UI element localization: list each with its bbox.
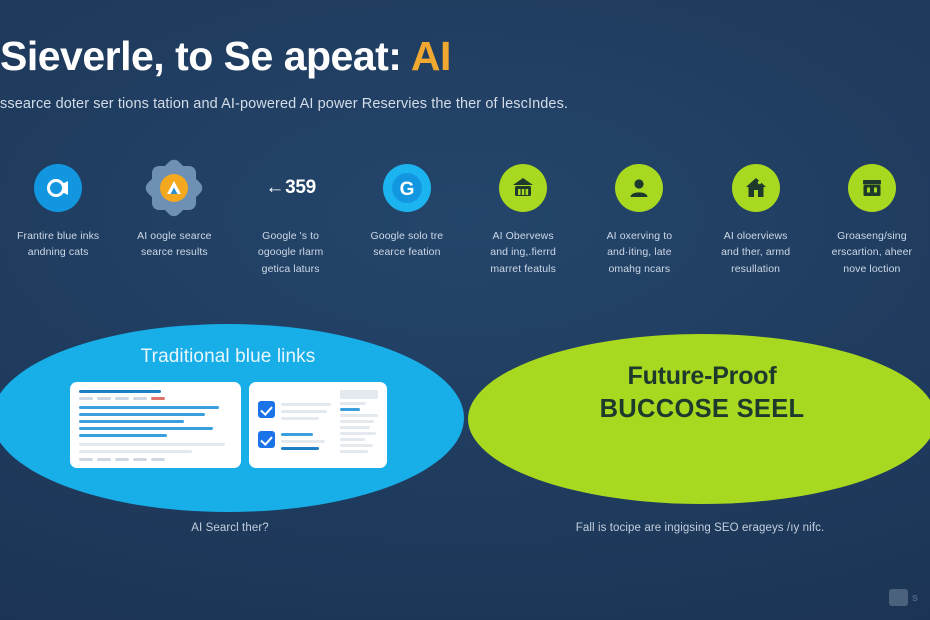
svg-text:G: G [399, 179, 414, 200]
result-line-muted [79, 443, 226, 446]
row-line [281, 417, 319, 420]
result-line [79, 427, 214, 430]
side-line [340, 414, 378, 417]
side-line [340, 432, 376, 435]
side-line [340, 450, 368, 453]
side-thumb [340, 390, 378, 399]
label-line-1: AI oloerviews [721, 228, 790, 244]
chip [133, 458, 147, 461]
label-line-1: AI oogle searce [137, 228, 211, 244]
ai-overview-side-column [340, 390, 378, 460]
serp-mockup-cards [70, 382, 387, 468]
starburst-core [160, 174, 188, 202]
serp-result-card [70, 382, 241, 468]
icon-slot [146, 160, 202, 216]
feature-item-label: Google solo tre searce feation [371, 228, 444, 261]
result-line [79, 413, 206, 416]
panel-left-caption: AI Searcl ther? [0, 522, 460, 534]
feature-item-label: AI oxerving to and·iting, late omahg nca… [607, 228, 673, 277]
slide-canvas: Sieverle, to Se apeat: AI ssearce doter … [0, 0, 930, 620]
panel-right-title: Future-Proof BUCCOSE SEEL [600, 360, 805, 426]
header: Sieverle, to Se apeat: AI ssearce doter … [0, 34, 930, 112]
side-line [340, 402, 367, 405]
panel-right-title-line2: BUCCOSE SEEL [600, 393, 805, 426]
icon-slot [30, 160, 86, 216]
traditional-search-panel[interactable]: Traditional blue links [0, 324, 464, 512]
back-arrow-count-icon: ← 359 [265, 177, 316, 199]
label-line-2: and ther, armd [721, 244, 790, 260]
camera-circle-icon [34, 164, 82, 212]
ai-overview-main-column [258, 390, 334, 460]
future-proof-panel[interactable]: Future-Proof BUCCOSE SEEL [468, 334, 930, 504]
feature-item-8[interactable]: Groaseng/sing erscartion, aheer nove loc… [814, 160, 930, 277]
chip [97, 458, 111, 461]
result-line [79, 406, 220, 409]
back-arrow-glyph: ← [265, 177, 284, 199]
chip [97, 397, 111, 400]
label-line-2: and ing,.fierrd [490, 244, 556, 260]
label-line-3: marret featuls [490, 261, 556, 277]
chip [79, 397, 93, 400]
label-line-1: AI oxerving to [607, 228, 673, 244]
house-icon [732, 164, 780, 212]
feature-item-label: Frantire blue inks andning cats [17, 228, 99, 261]
check-icon [258, 431, 275, 448]
label-line-3: omahg ncars [607, 261, 673, 277]
feature-item-label: AI oogle searce searce results [137, 228, 211, 261]
chip [151, 458, 165, 461]
panel-left-title: Traditional blue links [141, 346, 316, 368]
result-line [79, 434, 168, 437]
result-line-muted [79, 450, 192, 453]
row-line [281, 447, 319, 450]
side-line [340, 420, 375, 423]
feature-item-7[interactable]: AI oloerviews and ther, armd resullation [698, 160, 814, 277]
row-line [281, 433, 314, 436]
label-line-1: Google 's to [258, 228, 324, 244]
label-line-1: AI Obervews [490, 228, 556, 244]
row-line [281, 440, 326, 443]
bank-building-icon [499, 164, 547, 212]
page-title-accent: AI [411, 33, 451, 79]
feature-item-label: AI oloerviews and ther, armd resullation [721, 228, 790, 277]
page-subtitle: ssearce doter ser tions tation and AI-po… [0, 96, 930, 112]
label-line-2: ogoogle rlarm [258, 244, 324, 260]
count-value: 359 [285, 177, 316, 199]
label-line-2: erscartion, aheer [832, 244, 913, 260]
feature-item-5[interactable]: AI Obervews and ing,.fierrd marret featu… [465, 160, 581, 277]
page-title-main: Sieverle, to Se apeat: [0, 33, 401, 79]
label-line-1: Groaseng/sing [832, 228, 913, 244]
storefront-icon [848, 164, 896, 212]
ai-overview-row [258, 401, 334, 424]
feature-item-3[interactable]: ← 359 Google 's to ogoogle rlarm getica … [233, 160, 349, 277]
row-line [281, 403, 332, 406]
label-line-2: and·iting, late [607, 244, 673, 260]
label-line-3: resullation [721, 261, 790, 277]
label-line-1: Google solo tre [371, 228, 444, 244]
side-line [340, 426, 370, 429]
result-footer-chips [79, 458, 232, 461]
icon-slot [495, 160, 551, 216]
side-line [340, 408, 361, 411]
watermark-logo: s [889, 589, 918, 606]
row-line [281, 410, 328, 413]
google-g-circle-icon: G [383, 164, 431, 212]
label-line-3: nove loction [832, 261, 913, 277]
chip [133, 397, 147, 400]
row-lines [281, 401, 334, 424]
feature-item-label: Groaseng/sing erscartion, aheer nove loc… [832, 228, 913, 277]
label-line-2: andning cats [17, 244, 99, 260]
ai-overview-row [258, 431, 334, 454]
icon-slot: G [379, 160, 435, 216]
feature-item-6[interactable]: AI oxerving to and·iting, late omahg nca… [581, 160, 697, 277]
feature-item-label: AI Obervews and ing,.fierrd marret featu… [490, 228, 556, 277]
watermark-text: s [912, 592, 918, 604]
icon-slot [728, 160, 784, 216]
chip [79, 458, 93, 461]
row-lines [281, 431, 334, 454]
label-line-3: getica laturs [258, 261, 324, 277]
feature-item-2[interactable]: AI oogle searce searce results [116, 160, 232, 261]
feature-icon-row: Frantire blue inks andning cats [0, 160, 930, 277]
panel-right-title-line1: Future-Proof [600, 360, 805, 393]
feature-item-1[interactable]: Frantire blue inks andning cats [0, 160, 116, 261]
label-line-2: searce results [137, 244, 211, 260]
serp-ai-overview-card [249, 382, 387, 468]
label-line-1: Frantire blue inks [17, 228, 99, 244]
chip [115, 397, 129, 400]
result-title-bar [79, 390, 162, 393]
result-chip-row [79, 397, 232, 400]
result-line [79, 420, 185, 423]
label-line-2: searce feation [371, 244, 444, 260]
chip-highlight [151, 397, 165, 400]
check-icon [258, 401, 275, 418]
starburst-badge-icon [149, 163, 199, 213]
icon-slot [611, 160, 667, 216]
icon-slot [844, 160, 900, 216]
person-icon [615, 164, 663, 212]
feature-item-4[interactable]: G Google solo tre searce feation [349, 160, 465, 261]
feature-item-label: Google 's to ogoogle rlarm getica laturs [258, 228, 324, 277]
side-line [340, 438, 365, 441]
icon-slot: ← 359 [263, 160, 319, 216]
page-title: Sieverle, to Se apeat: AI [0, 34, 930, 80]
panel-right-caption: Fall is tocipe are ingigsing SEO erageys… [470, 522, 930, 534]
watermark-mark-icon [889, 589, 908, 606]
side-line [340, 444, 373, 447]
chip [115, 458, 129, 461]
